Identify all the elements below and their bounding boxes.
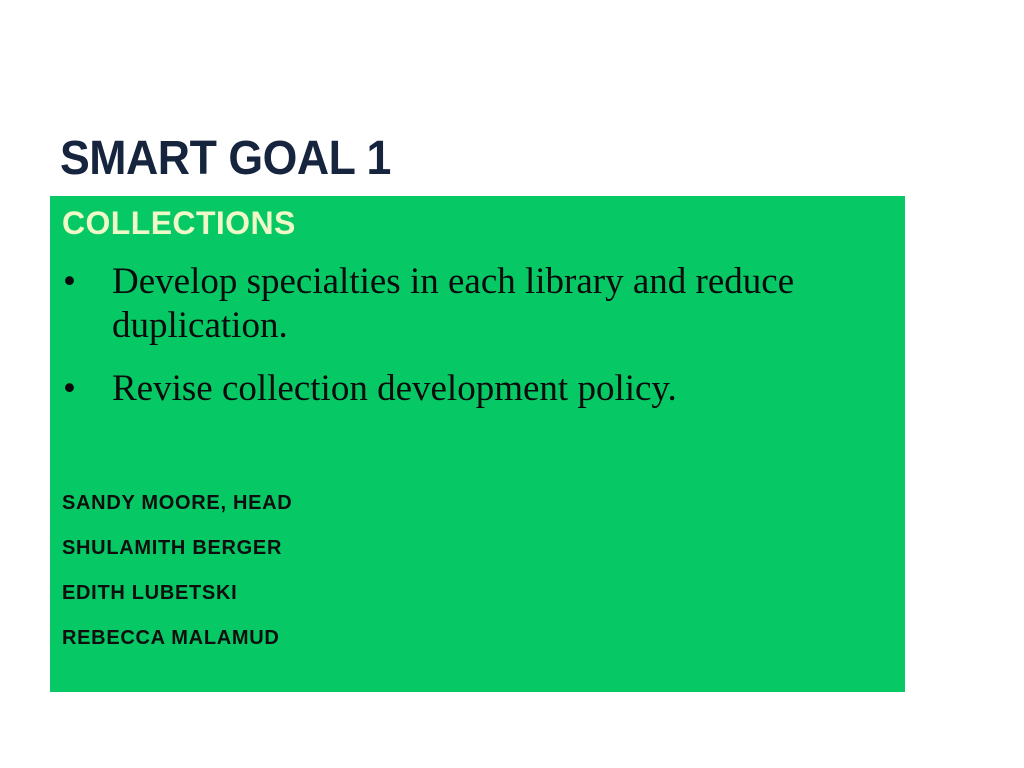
list-item-text: Develop specialties in each library and … (112, 260, 900, 349)
list-item-text: Revise collection development policy. (112, 367, 900, 411)
list-item: REBECCA MALAMUD (62, 628, 762, 648)
list-item: • Develop specialties in each library an… (50, 260, 900, 349)
content-panel: COLLECTIONS • Develop specialties in eac… (50, 196, 905, 692)
bullet-list: • Develop specialties in each library an… (50, 260, 900, 429)
page-title: SMART GOAL 1 (60, 135, 878, 183)
bullet-point-icon: • (63, 260, 76, 304)
list-item: SANDY MOORE, HEAD (62, 493, 762, 513)
presenter-list: SANDY MOORE, HEAD SHULAMITH BERGER EDITH… (62, 493, 762, 648)
section-heading: COLLECTIONS (62, 207, 296, 239)
list-item: SHULAMITH BERGER (62, 538, 762, 558)
bullet-point-icon: • (63, 367, 76, 411)
list-item: EDITH LUBETSKI (62, 583, 762, 603)
presentation-slide: SMART GOAL 1 COLLECTIONS • Develop speci… (0, 0, 1024, 768)
list-item: • Revise collection development policy. (50, 367, 900, 411)
